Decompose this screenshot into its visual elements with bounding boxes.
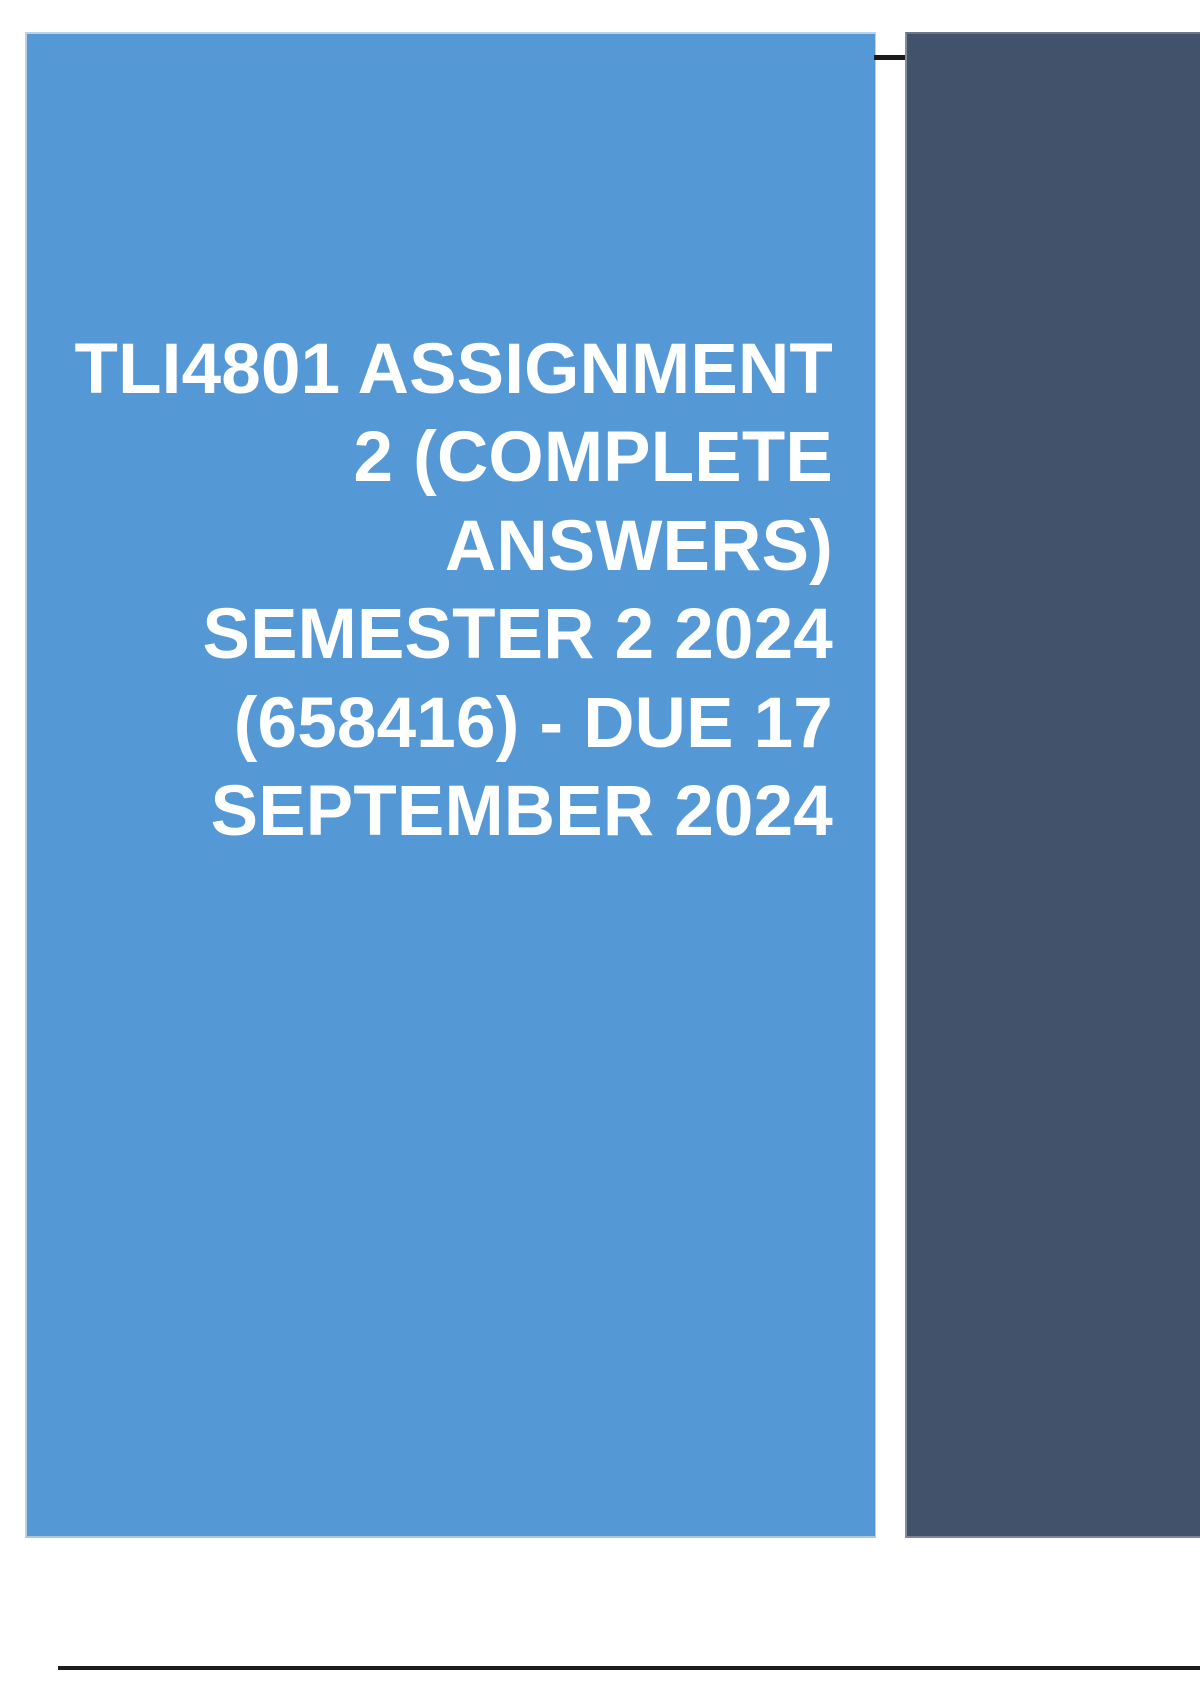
page-title: TLI4801 ASSIGNMENT 2 (COMPLETE ANSWERS) … (67, 326, 833, 856)
footer-separator-rule (58, 1666, 1200, 1670)
panel-connector-rule (874, 55, 907, 60)
accent-sidebar-panel (905, 32, 1200, 1538)
cover-page: TLI4801 ASSIGNMENT 2 (COMPLETE ANSWERS) … (0, 0, 1200, 1700)
cover-title-panel: TLI4801 ASSIGNMENT 2 (COMPLETE ANSWERS) … (25, 32, 876, 1538)
